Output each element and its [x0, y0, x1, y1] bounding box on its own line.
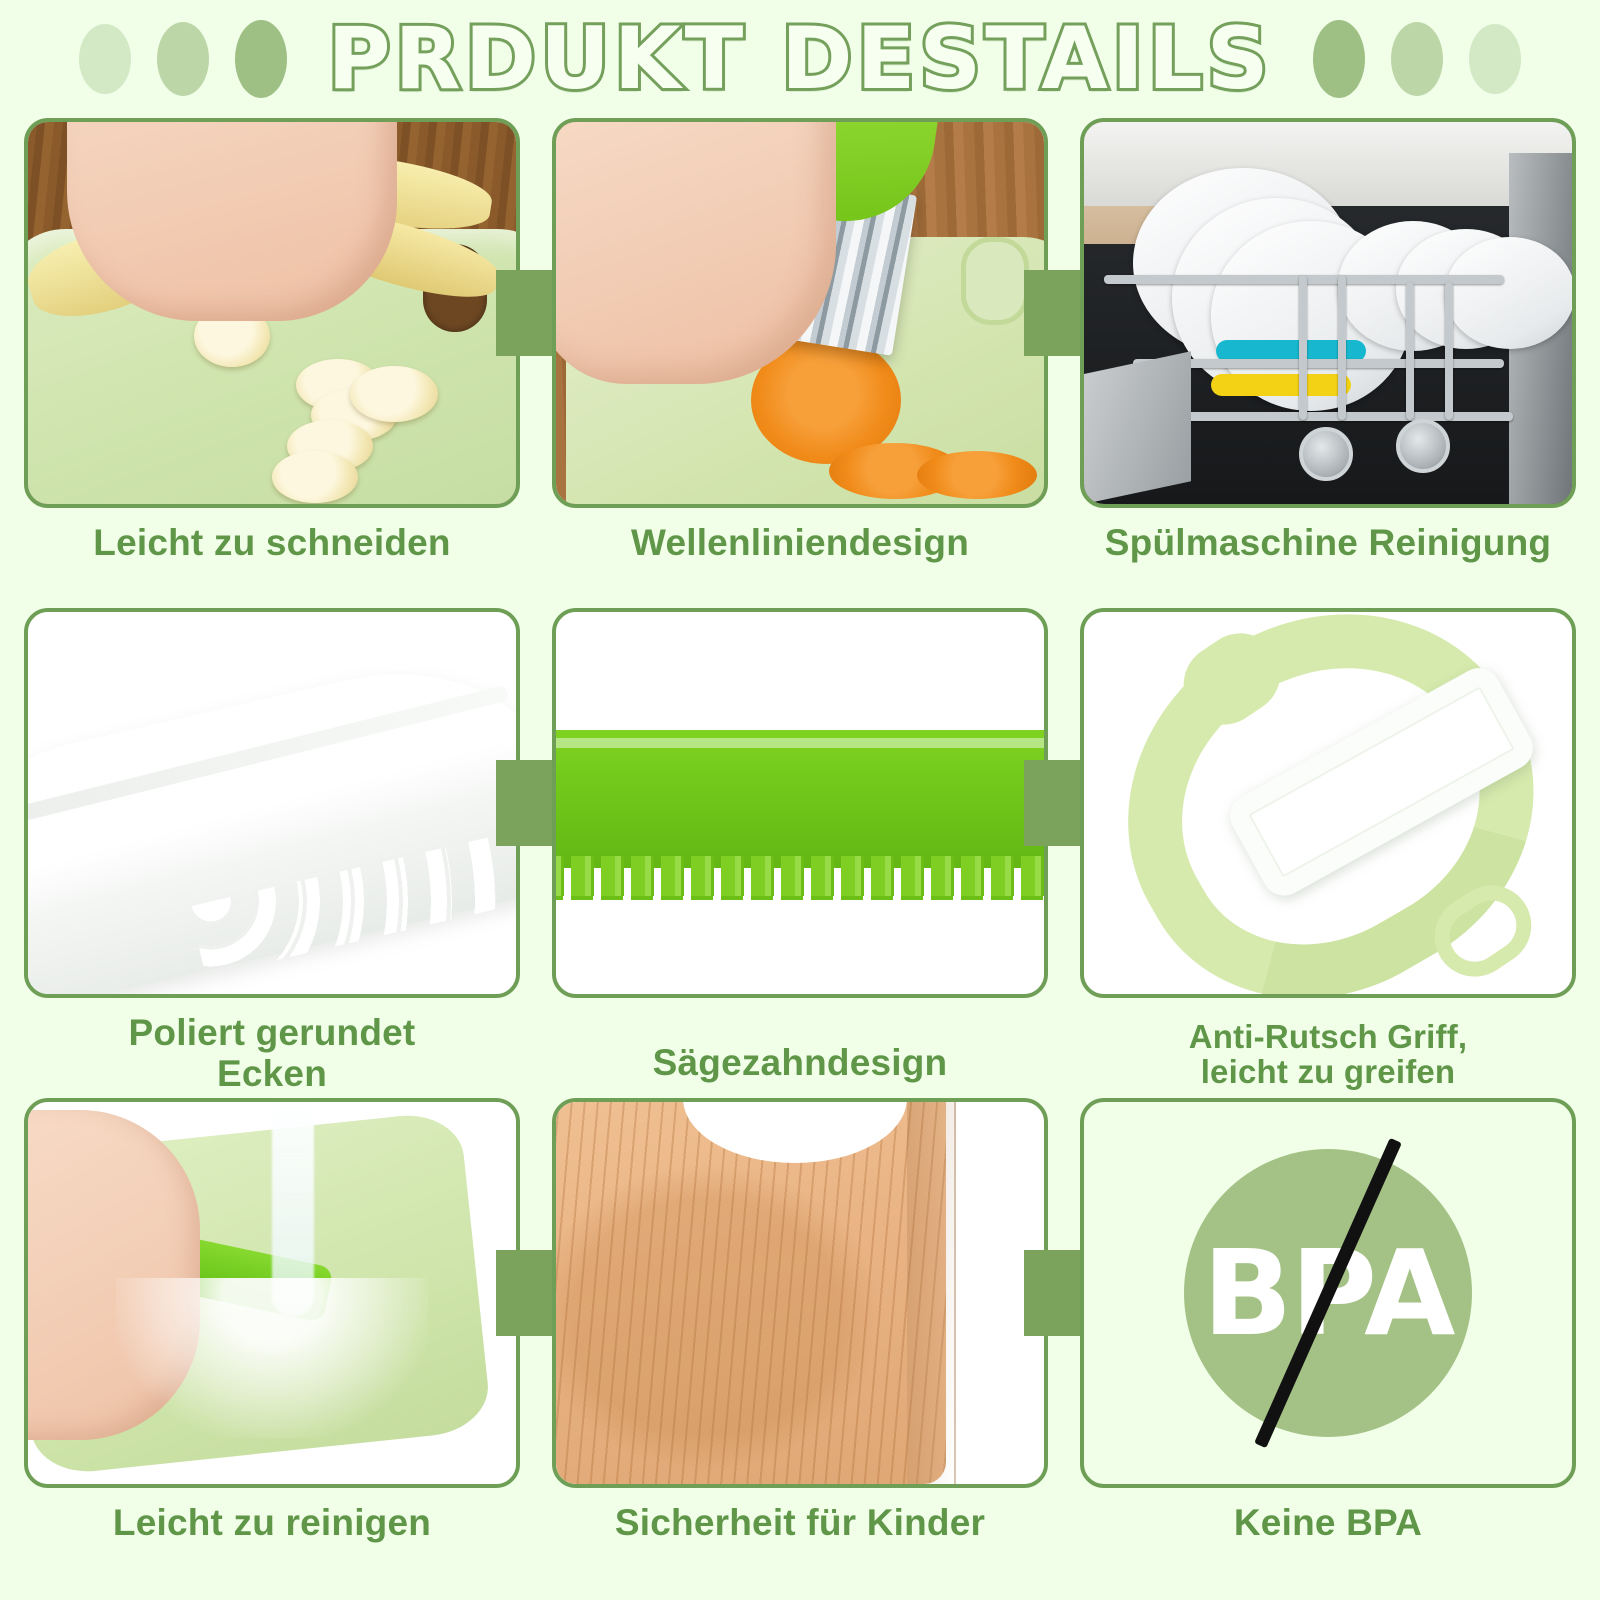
feature-image-serrated-design [552, 608, 1048, 998]
connector-bar [1024, 270, 1080, 356]
feature-caption-line: Anti-Rutsch Griff, [1080, 1020, 1576, 1055]
feature-caption-line: Ecken [24, 1053, 520, 1094]
feature-grid: Leicht zu schneiden Wellenliniendesign [0, 118, 1600, 1600]
feature-image-polished-rounded-corners [24, 608, 520, 998]
feature-card-serrated-design: Sägezahndesign [552, 608, 1048, 1083]
feature-caption: Anti-Rutsch Griff, leicht zu greifen [1080, 1020, 1576, 1090]
feature-image-bpa-free: BPA [1080, 1098, 1576, 1488]
feature-image-anti-slip-grip [1080, 608, 1576, 998]
feature-caption: Poliert gerundet Ecken [24, 1012, 520, 1095]
feature-caption-line: leicht zu greifen [1080, 1055, 1576, 1090]
no-bpa-icon: BPA [1184, 1149, 1472, 1437]
decorative-dot-icon [79, 24, 131, 94]
connector-bar [496, 1250, 552, 1336]
feature-caption: Sicherheit für Kinder [552, 1502, 1048, 1543]
feature-image-wavy-line-design [552, 118, 1048, 508]
header-dots-right [1313, 20, 1521, 98]
feature-caption-line: Poliert gerundet [24, 1012, 520, 1053]
connector-bar [496, 270, 552, 356]
feature-image-easy-to-clean [24, 1098, 520, 1488]
feature-row: Poliert gerundet Ecken Sägezahndesign [0, 608, 1600, 1098]
decorative-dot-icon [235, 20, 287, 98]
feature-card-dishwasher-safe: Spülmaschine Reinigung [1080, 118, 1576, 563]
feature-card-anti-slip-grip: Anti-Rutsch Griff, leicht zu greifen [1080, 608, 1576, 1090]
connector-bar [496, 760, 552, 846]
feature-caption: Spülmaschine Reinigung [1080, 522, 1576, 563]
feature-caption: Leicht zu schneiden [24, 522, 520, 563]
connector-bar [1024, 1250, 1080, 1336]
feature-card-polished-rounded-corners: Poliert gerundet Ecken [24, 608, 520, 1095]
header-dots-left [79, 20, 287, 98]
feature-card-easy-to-clean: Leicht zu reinigen [24, 1098, 520, 1543]
feature-card-bpa-free: BPA Keine BPA [1080, 1098, 1576, 1543]
decorative-dot-icon [1391, 22, 1443, 96]
feature-card-wavy-line-design: Wellenliniendesign [552, 118, 1048, 563]
decorative-dot-icon [157, 22, 209, 96]
page-header: PRDUKT DESTAILS [0, 0, 1600, 118]
feature-row: Leicht zu schneiden Wellenliniendesign [0, 118, 1600, 608]
feature-image-child-safety [552, 1098, 1048, 1488]
feature-image-easy-to-cut [24, 118, 520, 508]
feature-caption: Leicht zu reinigen [24, 1502, 520, 1543]
feature-card-easy-to-cut: Leicht zu schneiden [24, 118, 520, 563]
decorative-dot-icon [1313, 20, 1365, 98]
feature-row: Leicht zu reinigen Sicherheit für Kinder… [0, 1098, 1600, 1600]
feature-caption: Sägezahndesign [552, 1042, 1048, 1083]
feature-image-dishwasher-safe [1080, 118, 1576, 508]
feature-card-child-safety: Sicherheit für Kinder [552, 1098, 1048, 1543]
feature-caption: Wellenliniendesign [552, 522, 1048, 563]
feature-caption: Keine BPA [1080, 1502, 1576, 1543]
page-title: PRDUKT DESTAILS [313, 16, 1286, 102]
connector-bar [1024, 760, 1080, 846]
decorative-dot-icon [1469, 24, 1521, 94]
